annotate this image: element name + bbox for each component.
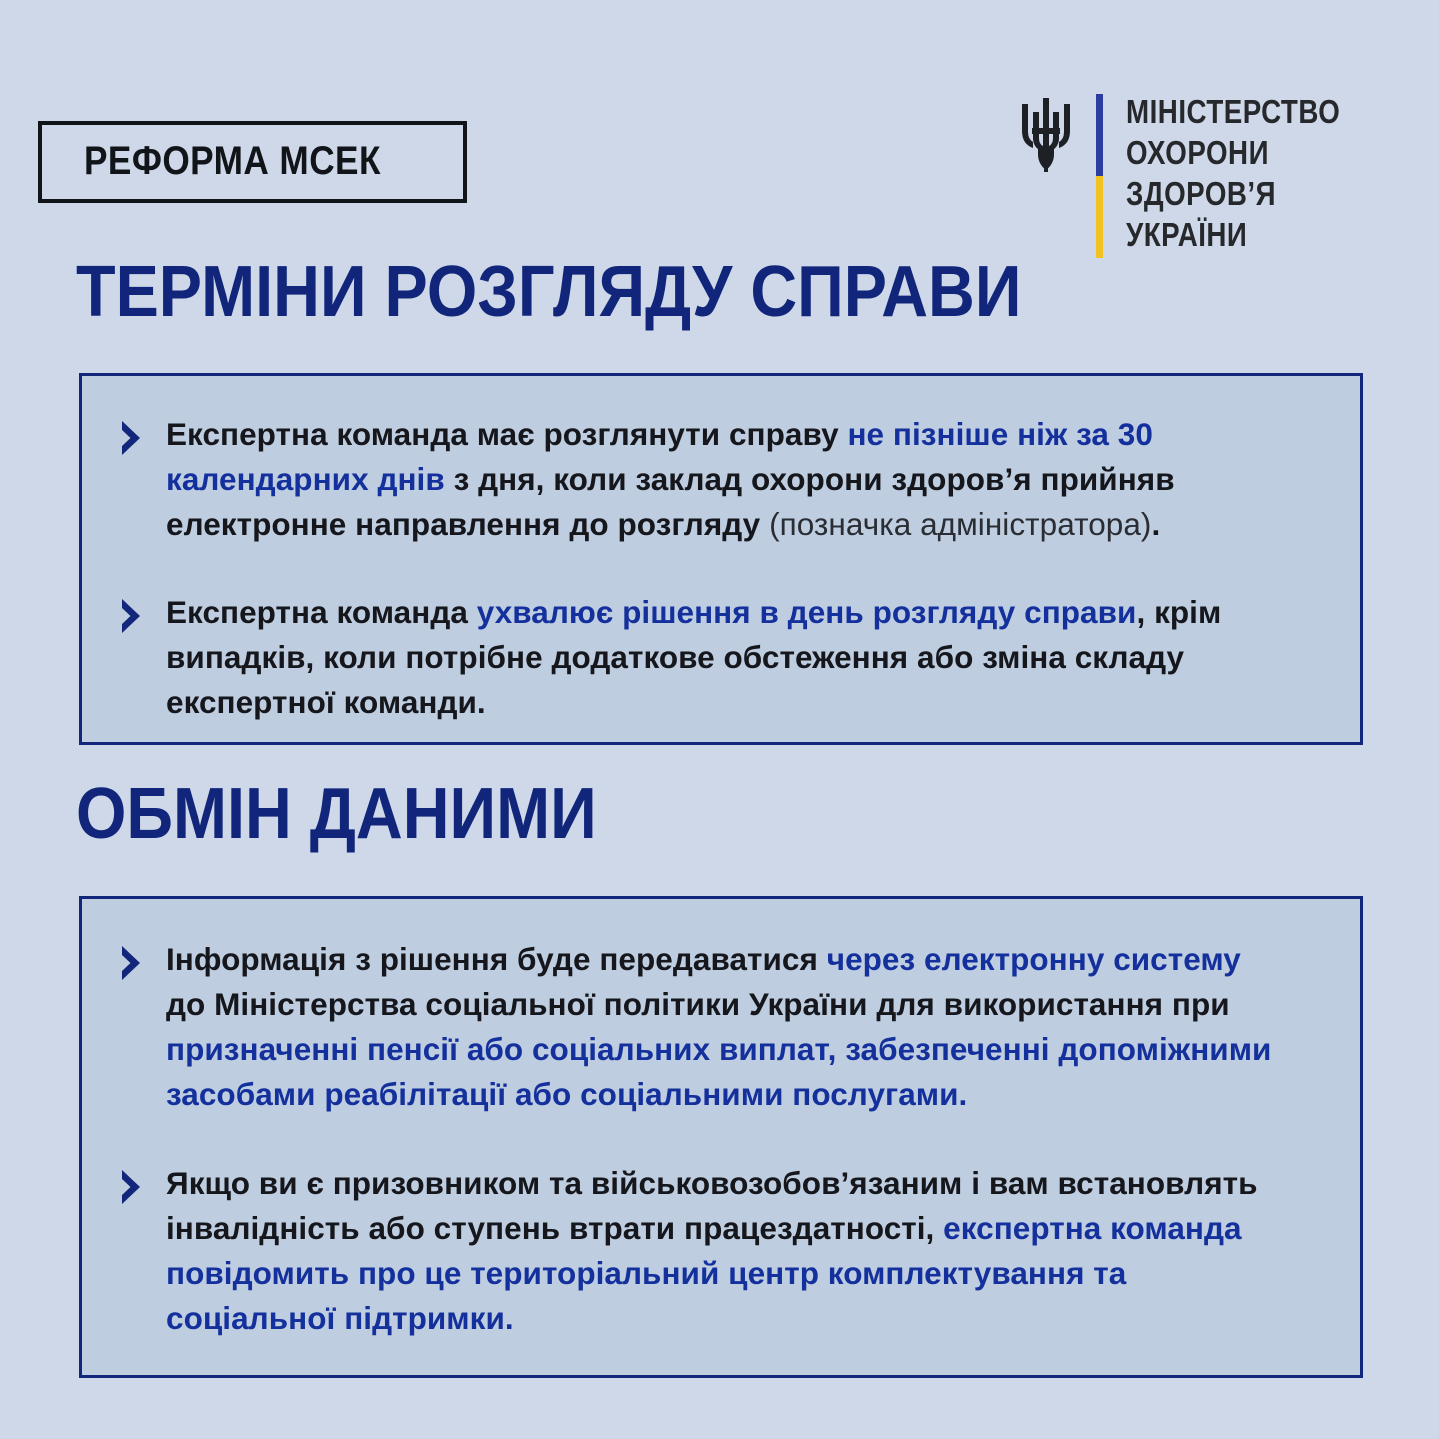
- chevron-right-icon: [116, 1167, 146, 1207]
- reform-badge: РЕФОРМА МСЕК: [38, 121, 467, 203]
- header: РЕФОРМА МСЕК: [0, 0, 1439, 270]
- data-exchange-content-box: Інформація з рішення буде передаватися ч…: [79, 896, 1363, 1378]
- text-run-highlight: через електронну систему: [827, 941, 1241, 977]
- text-run: до Міністерства соціальної політики Укра…: [166, 986, 1230, 1022]
- ministry-line-4: УКРАЇНИ: [1126, 215, 1340, 254]
- chevron-right-icon: [116, 596, 146, 636]
- bullet-item: Інформація з рішення буде передаватися ч…: [116, 937, 1326, 1117]
- text-run-note: (позначка адміністратора): [769, 506, 1151, 542]
- text-run-highlight: призначенні пенсії або соціальних виплат…: [166, 1031, 1271, 1112]
- bullet-text: Інформація з рішення буде передаватися ч…: [166, 937, 1286, 1117]
- text-run: Експертна команда: [166, 594, 477, 630]
- bullet-text: Експертна команда ухвалює рішення в день…: [166, 590, 1286, 725]
- section-title-data-exchange: ОБМІН ДАНИМИ: [76, 777, 597, 851]
- flag-divider-bar: [1096, 94, 1103, 258]
- bullet-item: Експертна команда має розглянути справу …: [116, 412, 1326, 547]
- text-run-highlight: ухвалює рішення в день розгляду справи: [477, 594, 1137, 630]
- section-title-terms: ТЕРМІНИ РОЗГЛЯДУ СПРАВИ: [76, 255, 1021, 329]
- ministry-line-3: ЗДОРОВ’Я: [1126, 174, 1340, 213]
- ministry-logo: МІНІСТЕРСТВО ОХОРОНИ ЗДОРОВ’Я УКРАЇНИ: [1018, 90, 1381, 258]
- ministry-name: МІНІСТЕРСТВО ОХОРОНИ ЗДОРОВ’Я УКРАЇНИ: [1126, 90, 1381, 254]
- bullet-item: Експертна команда ухвалює рішення в день…: [116, 590, 1326, 725]
- bullet-text: Якщо ви є призовником та військовозобов’…: [166, 1161, 1286, 1341]
- reform-badge-label: РЕФОРМА МСЕК: [84, 141, 381, 181]
- ministry-line-2: ОХОРОНИ: [1126, 133, 1340, 172]
- chevron-right-icon: [116, 418, 146, 458]
- bullet-item: Якщо ви є призовником та військовозобов’…: [116, 1161, 1326, 1341]
- bullet-text: Експертна команда має розглянути справу …: [166, 412, 1286, 547]
- ukraine-trident-icon: [1018, 98, 1074, 172]
- terms-content-box: Експертна команда має розглянути справу …: [79, 373, 1363, 745]
- ministry-line-1: МІНІСТЕРСТВО: [1126, 92, 1340, 131]
- text-run: Експертна команда має розглянути справу: [166, 416, 847, 452]
- text-run: Інформація з рішення буде передаватися: [166, 941, 827, 977]
- text-run: .: [1151, 506, 1160, 542]
- chevron-right-icon: [116, 943, 146, 983]
- infographic-page: РЕФОРМА МСЕК: [0, 0, 1439, 1439]
